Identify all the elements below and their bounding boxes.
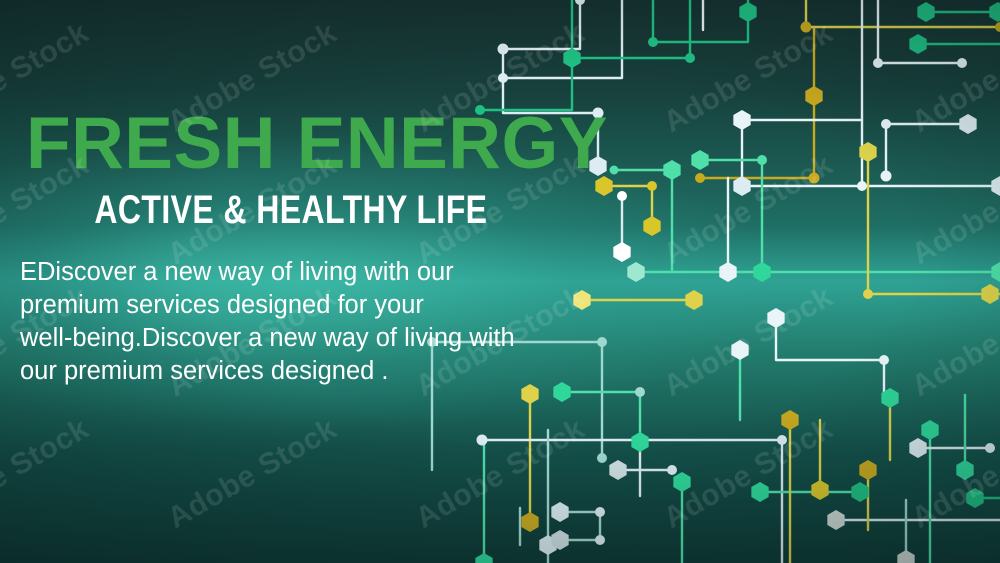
page-title: FRESH ENERGY	[0, 108, 600, 180]
body-copy: EDiscover a new way of living with our p…	[0, 256, 580, 389]
banner-root: FRESH ENERGY ACTIVE & HEALTHY LIFE EDisc…	[0, 0, 1000, 563]
text-content-block: FRESH ENERGY ACTIVE & HEALTHY LIFE EDisc…	[0, 108, 600, 388]
body-line-4: our premium services designed .	[20, 355, 580, 388]
body-line-3: well-being.Discover a new way of living …	[20, 322, 580, 355]
body-line-1: EDiscover a new way of living with our	[20, 256, 580, 289]
body-line-2: premium services designed for your	[20, 289, 580, 322]
page-subtitle: ACTIVE & HEALTHY LIFE	[0, 190, 480, 230]
